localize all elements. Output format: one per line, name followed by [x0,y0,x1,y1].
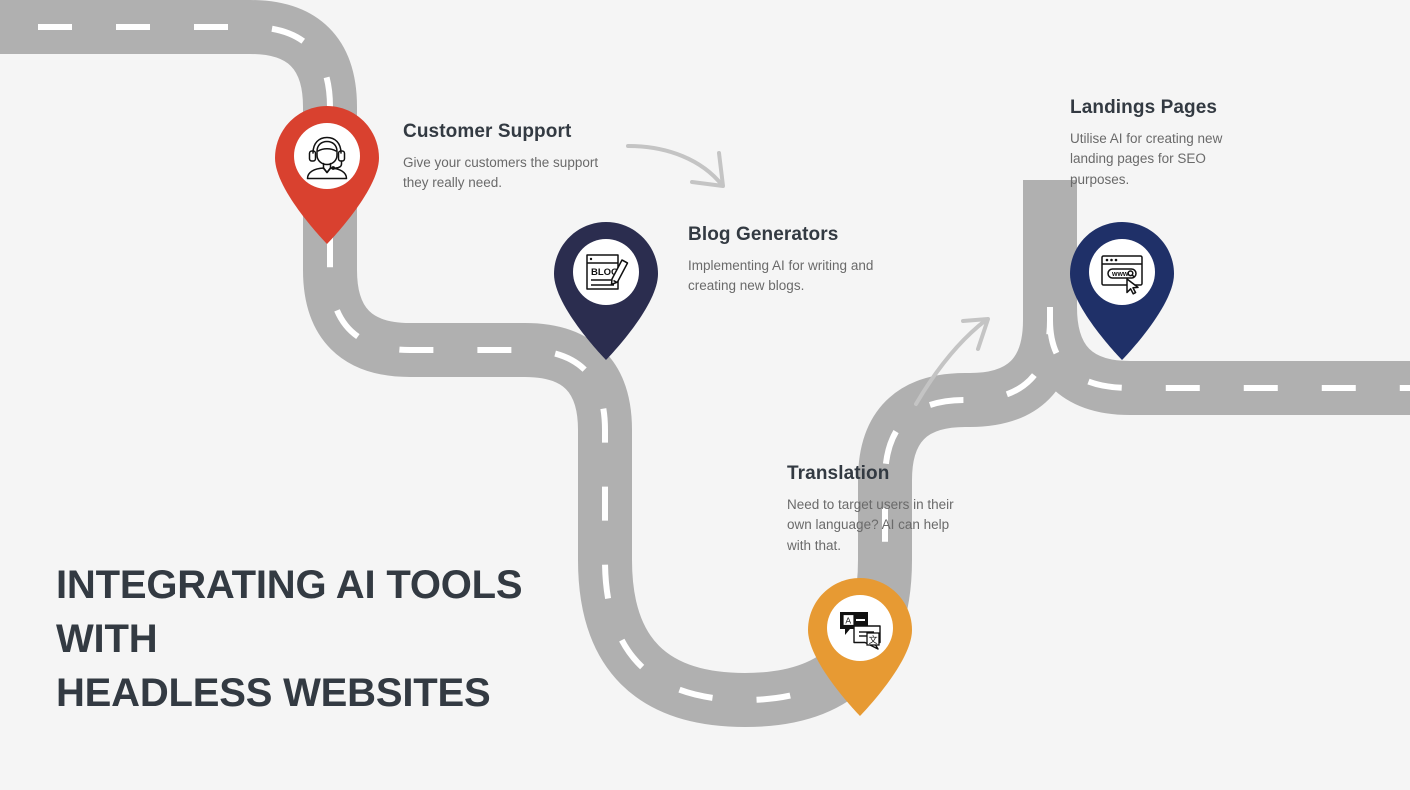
step-text-blog-generators: Blog Generators Implementing AI for writ… [688,225,883,297]
step-body-landings-pages: Utilise AI for creating new landing page… [1070,129,1265,191]
step-title-customer-support: Customer Support [403,122,603,143]
landings-icon-label: www. [1111,271,1130,278]
blog-document-pencil-icon: BLOG [580,246,632,298]
infographic-canvas: BLOG [0,0,1410,790]
pin-customer-support[interactable] [275,106,379,244]
page-title-line-2: Headless Websites [56,666,616,720]
step-title-blog-generators: Blog Generators [688,225,883,246]
step-text-translation: Translation Need to target users in thei… [787,464,962,556]
step-body-blog-generators: Implementing AI for writing and creating… [688,256,883,297]
step-text-landings-pages: Landings Pages Utilise AI for creating n… [1070,98,1265,190]
step-title-translation: Translation [787,464,962,485]
pin-landings-pages[interactable]: www. [1070,222,1174,360]
step-text-customer-support: Customer Support Give your customers the… [403,122,603,194]
headset-support-agent-icon [301,130,353,182]
page-title-line-1: Integrating AI Tools with [56,558,616,666]
arrow-to-landings-icon [916,319,988,404]
browser-window-cursor-icon: www. [1096,246,1148,298]
step-body-translation: Need to target users in their own langua… [787,495,962,557]
translation-icon-label-a: A [845,615,851,625]
arrow-to-blog-icon [628,146,723,186]
translation-icon-label-b: 文 [869,634,878,646]
step-body-customer-support: Give your customers the support they rea… [403,153,603,194]
pin-blog-generators[interactable]: BLOG [554,222,658,360]
step-title-landings-pages: Landings Pages [1070,98,1265,119]
pin-translation[interactable]: A 文 [808,578,912,716]
translation-speech-bubbles-icon: A 文 [834,602,886,654]
page-title: Integrating AI Tools with Headless Websi… [56,558,616,720]
